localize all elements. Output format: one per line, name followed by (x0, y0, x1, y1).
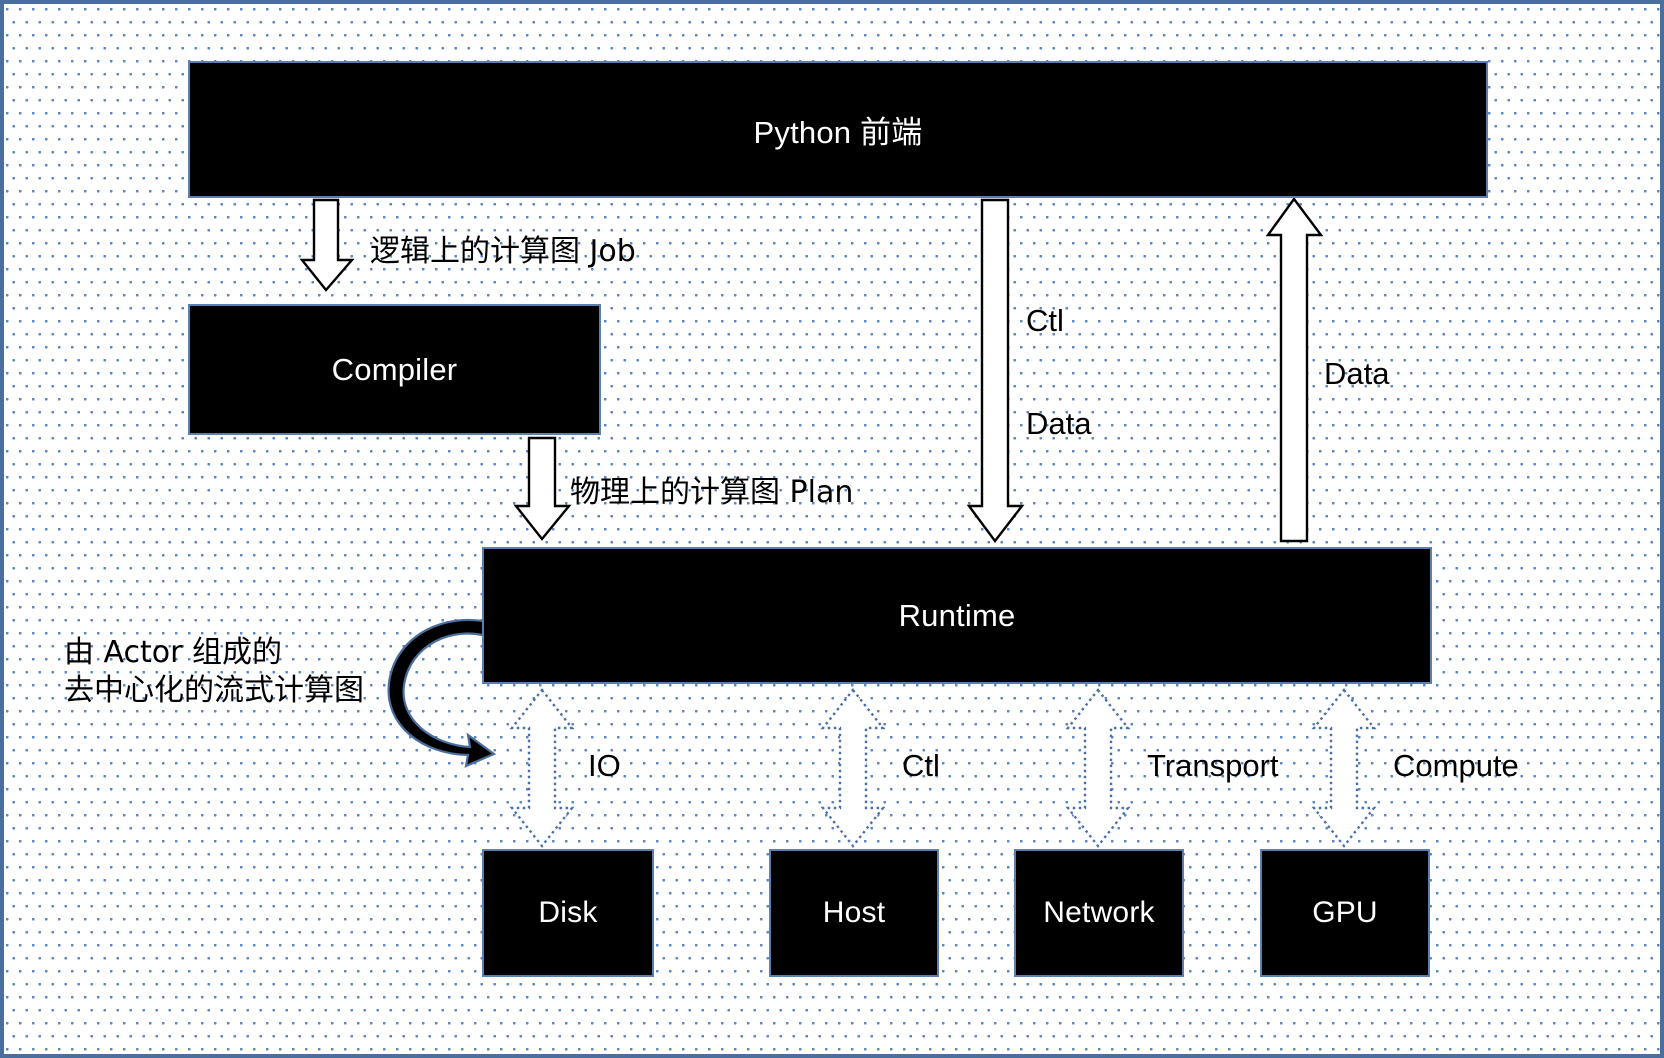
node-disk-label: Disk (538, 896, 597, 930)
arrow-runtime-to-frontend-data (1266, 198, 1324, 542)
node-runtime-label: Runtime (899, 598, 1016, 634)
edge-label-logical-graph: 逻辑上的计算图 Job (370, 233, 636, 271)
edge-label-physical-graph: 物理上的计算图 Plan (570, 474, 853, 512)
node-network-label: Network (1043, 896, 1154, 930)
arrow-runtime-host-ctl (819, 688, 887, 848)
arrow-runtime-disk-io (508, 688, 576, 848)
node-compiler-label: Compiler (332, 352, 458, 388)
edge-label-compute: Compute (1393, 747, 1519, 786)
annotation-line-1: 由 Actor 组成的 (64, 634, 364, 672)
edge-label-io: IO (588, 747, 621, 786)
arrow-runtime-network-transport (1064, 688, 1132, 848)
diagram-canvas: Python 前端 Compiler Runtime Disk Host Net… (0, 0, 1664, 1058)
node-runtime[interactable]: Runtime (482, 547, 1432, 684)
node-host[interactable]: Host (769, 849, 939, 977)
node-gpu[interactable]: GPU (1260, 849, 1430, 977)
edge-label-data-down: Data (1026, 405, 1091, 444)
node-python-frontend-label: Python 前端 (754, 107, 923, 152)
arrow-runtime-gpu-compute (1310, 688, 1378, 848)
node-network[interactable]: Network (1014, 849, 1184, 977)
node-compiler[interactable]: Compiler (188, 304, 601, 435)
edge-label-transport: Transport (1147, 747, 1279, 786)
curved-actor-pointer-arrow (382, 609, 497, 769)
edge-label-data-up: Data (1324, 355, 1389, 394)
node-gpu-label: GPU (1312, 896, 1378, 930)
annotation-line-2: 去中心化的流式计算图 (64, 672, 364, 710)
arrow-compiler-to-runtime (512, 438, 574, 542)
arrow-frontend-to-runtime-ctl-data (967, 200, 1025, 544)
node-host-label: Host (823, 896, 886, 930)
arrow-frontend-to-compiler (300, 200, 356, 292)
edge-label-ctl-bottom: Ctl (902, 747, 940, 786)
node-disk[interactable]: Disk (482, 849, 654, 977)
node-python-frontend[interactable]: Python 前端 (188, 61, 1488, 198)
edge-label-ctl-down: Ctl (1026, 302, 1064, 341)
annotation-actor-graph: 由 Actor 组成的 去中心化的流式计算图 (64, 634, 364, 709)
